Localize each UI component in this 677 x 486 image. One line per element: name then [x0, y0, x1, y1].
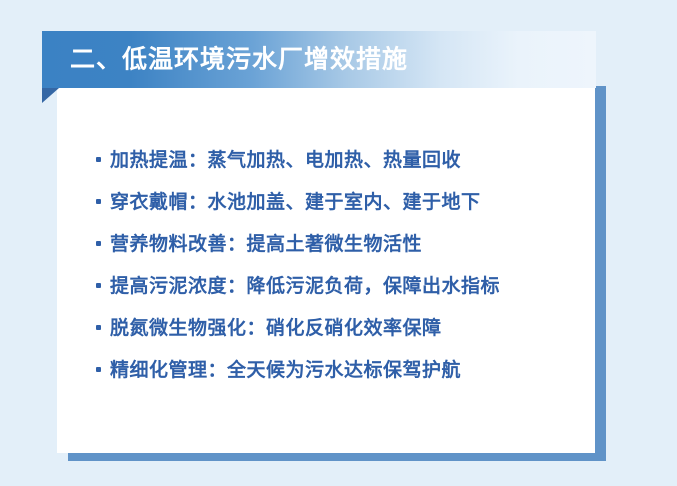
list-item-label: 提高污泥浓度：降低污泥负荷，保障出水指标: [110, 271, 500, 298]
list-item: 加热提温：蒸气加热、电加热、热量回收: [96, 145, 596, 187]
bullet-list: 加热提温：蒸气加热、电加热、热量回收 穿衣戴帽：水池加盖、建于室内、建于地下 营…: [96, 145, 596, 397]
bullet-dot-icon: [96, 151, 110, 166]
page-title: 二、低温环境污水厂增效措施: [70, 47, 408, 72]
list-item: 提高污泥浓度：降低污泥负荷，保障出水指标: [96, 271, 596, 313]
list-item: 穿衣戴帽：水池加盖、建于室内、建于地下: [96, 187, 596, 229]
bullet-dot-icon: [96, 193, 110, 208]
list-item: 脱氮微生物强化：硝化反硝化效率保障: [96, 313, 596, 355]
bullet-dot-icon: [96, 235, 110, 250]
list-item-label: 穿衣戴帽：水池加盖、建于室内、建于地下: [110, 187, 481, 214]
slide-root: 二、低温环境污水厂增效措施 加热提温：蒸气加热、电加热、热量回收 穿衣戴帽：水池…: [0, 0, 677, 486]
list-item: 精细化管理：全天候为污水达标保驾护航: [96, 355, 596, 397]
header-banner: 二、低温环境污水厂增效措施: [42, 31, 596, 88]
bullet-dot-icon: [96, 319, 110, 334]
list-item-label: 营养物料改善：提高土著微生物活性: [110, 229, 422, 256]
list-item-label: 脱氮微生物强化：硝化反硝化效率保障: [110, 313, 442, 340]
list-item-label: 加热提温：蒸气加热、电加热、热量回收: [110, 145, 461, 172]
bullet-dot-icon: [96, 361, 110, 376]
bullet-dot-icon: [96, 277, 110, 292]
list-item-label: 精细化管理：全天候为污水达标保驾护航: [110, 355, 461, 382]
list-item: 营养物料改善：提高土著微生物活性: [96, 229, 596, 271]
